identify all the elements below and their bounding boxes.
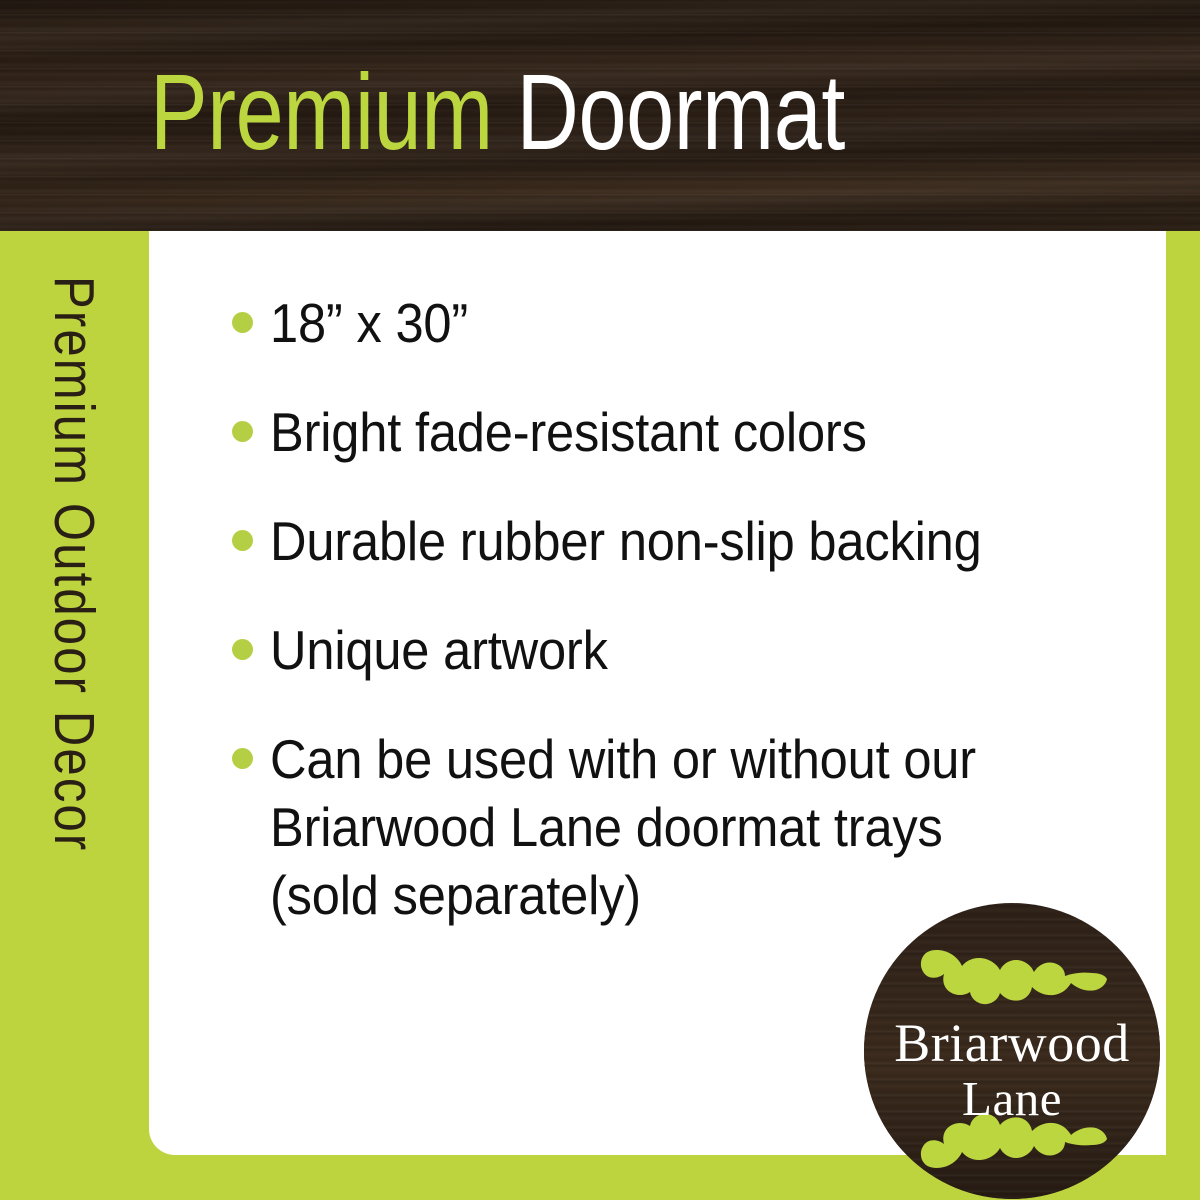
oak-leaf-icon	[915, 947, 1109, 1009]
bullet-dot-icon	[232, 530, 253, 551]
feature-text: Can be used with or without our Briarwoo…	[270, 725, 976, 929]
product-infographic: Premium Doormat Premium Outdoor Decor 18…	[0, 0, 1200, 1200]
list-item: Durable rubber non-slip backing	[232, 507, 1112, 575]
header-band: Premium Doormat	[0, 0, 1200, 231]
bullet-dot-icon	[232, 748, 253, 769]
feature-text: 18” x 30”	[270, 289, 468, 357]
list-item: Unique artwork	[232, 616, 1112, 684]
sidebar-vertical-label: Premium Outdoor Decor	[0, 231, 149, 1200]
sidebar-label-text: Premium Outdoor Decor	[42, 276, 108, 852]
bullet-dot-icon	[232, 421, 253, 442]
feature-text: Durable rubber non-slip backing	[270, 507, 982, 575]
page-title: Premium Doormat	[150, 52, 845, 172]
bullet-dot-icon	[232, 639, 253, 660]
right-green-strip	[1166, 231, 1200, 1200]
feature-text: Bright fade-resistant colors	[270, 398, 867, 466]
brand-logo-badge: Briarwood Lane	[864, 903, 1160, 1199]
logo-brand-name: Briarwood	[864, 1016, 1160, 1070]
title-spacer	[493, 51, 517, 172]
title-main-word: Doormat	[516, 51, 845, 172]
title-accent-word: Premium	[150, 51, 493, 172]
list-item: 18” x 30”	[232, 289, 1112, 357]
list-item: Bright fade-resistant colors	[232, 398, 1112, 466]
feature-text: Unique artwork	[270, 616, 608, 684]
logo-brand-subname: Lane	[864, 1074, 1160, 1123]
bullet-dot-icon	[232, 312, 253, 333]
feature-list: 18” x 30” Bright fade-resistant colors D…	[232, 289, 1112, 970]
list-item: Can be used with or without our Briarwoo…	[232, 725, 1112, 929]
